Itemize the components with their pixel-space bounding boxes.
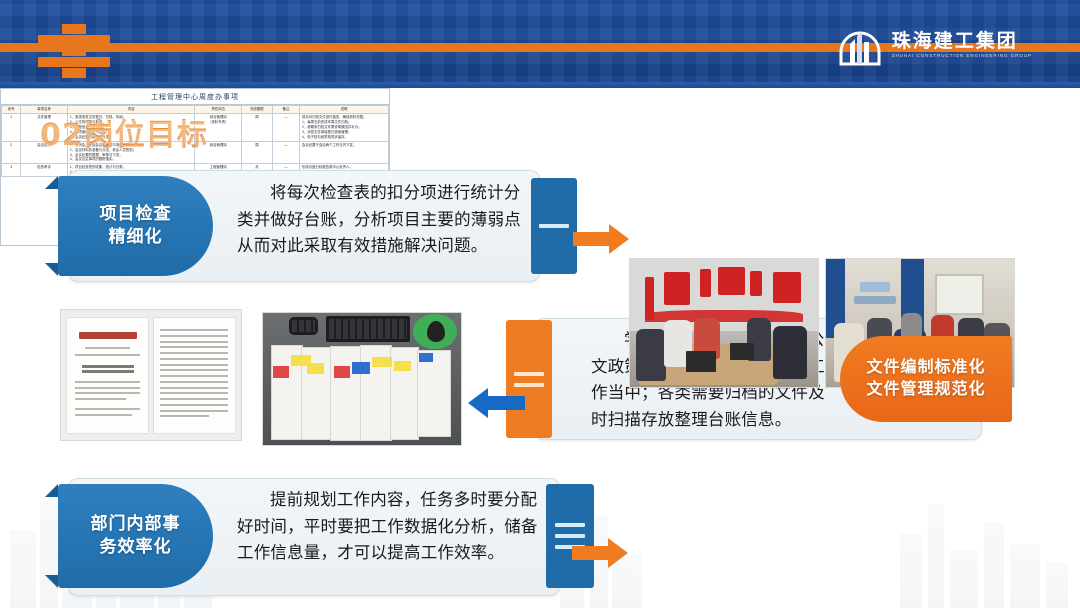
item-1-arrow-head xyxy=(609,224,629,254)
doc-line xyxy=(160,369,228,371)
table-header-cell: 序号 xyxy=(2,106,21,114)
doc-line xyxy=(75,408,140,410)
table-cell-no: 2 xyxy=(2,141,21,164)
desk-stapler xyxy=(289,317,319,335)
doc-line xyxy=(160,329,228,331)
doc-title-bar xyxy=(79,332,137,339)
item-2-arrow-head xyxy=(468,388,488,418)
item-3-arrow-head xyxy=(608,538,628,568)
photo-laptop xyxy=(730,343,754,360)
doc-line xyxy=(75,398,125,400)
doc-line xyxy=(160,410,228,412)
table-cell-remark: — xyxy=(272,113,299,141)
desk-sticky-note xyxy=(394,361,412,372)
desk-paper xyxy=(417,350,451,437)
item-2-marker xyxy=(506,320,552,438)
table-cell-remark: — xyxy=(272,141,299,164)
desk-sticky-note xyxy=(372,357,392,368)
photo-person xyxy=(773,326,807,380)
header-checker-motif xyxy=(22,24,132,72)
item-3-tag-fold-bottom xyxy=(45,575,58,588)
header-orange-bar-right xyxy=(1030,43,1080,52)
doc-line xyxy=(75,392,140,394)
item-3-arrow-shaft xyxy=(572,546,610,560)
item-1-tag[interactable]: 项目检查 精细化 xyxy=(58,176,213,276)
table-cell-note: 会议纪要于会后两个工作日内下发。 xyxy=(299,141,388,164)
company-logo: 珠海建工集团 ZHUHAI CONSTRUCTION ENGINEERING G… xyxy=(837,22,1032,68)
table-cell-deadline: 周 xyxy=(241,113,272,141)
item-3-tag[interactable]: 部门内部事 务效率化 xyxy=(58,484,213,588)
doc-line xyxy=(85,347,130,349)
doc-line xyxy=(160,398,228,400)
desk-sticky-note xyxy=(273,366,289,378)
doc-line xyxy=(160,341,228,343)
doc-line xyxy=(75,414,132,416)
item-1-arrow-right-icon xyxy=(573,224,629,254)
photo-meeting-red xyxy=(629,258,819,388)
photo-banner xyxy=(773,272,801,303)
doc-meeting-minutes xyxy=(60,309,242,441)
item-1-tag-line-1: 项目检查 xyxy=(100,203,172,226)
item-3-arrow-right-icon xyxy=(572,538,628,568)
item-1-mark-line-1 xyxy=(539,224,569,228)
item-1-tag-fold-top xyxy=(45,176,58,189)
item-2-mark-line-1 xyxy=(514,372,544,376)
table-image-title: 工程管理中心周度办事项 xyxy=(1,89,389,105)
doc-line xyxy=(160,375,228,377)
desk-paper xyxy=(330,346,362,441)
table-cell-no: 1 xyxy=(2,113,21,141)
photo-whiteboard xyxy=(935,274,984,315)
table-header-cell: 完成期限 xyxy=(241,106,272,114)
logo-company-name-cn: 珠海建工集团 xyxy=(892,32,1032,52)
doc-line xyxy=(160,358,228,360)
doc-line xyxy=(82,370,134,373)
doc-line xyxy=(160,364,228,366)
item-3-tag-line-2: 务效率化 xyxy=(100,536,172,559)
table-header-cell: 说明 xyxy=(299,106,388,114)
item-2-tag[interactable]: 文件编制标准化 文件管理规范化 xyxy=(840,336,1012,422)
table-cell-deadline: 周 xyxy=(241,141,272,164)
desk-sticky-note xyxy=(334,366,350,378)
photo-banner xyxy=(718,267,744,295)
page-title: 02岗位目标 xyxy=(40,110,208,154)
item-3-tag-fold-top xyxy=(45,484,58,497)
doc-line xyxy=(75,354,140,356)
slide-body: 02岗位目标 将每次检查表的扣分项进行统计分类并做好台账，分析项目主要的薄弱点从… xyxy=(0,88,1080,608)
logo-company-name-en: ZHUHAI CONSTRUCTION ENGINEERING GROUP xyxy=(892,53,1032,58)
doc-page-left xyxy=(66,317,149,434)
doc-line xyxy=(75,381,140,383)
item-2-mark-line-2 xyxy=(514,383,544,387)
item-3-tag-line-1: 部门内部事 xyxy=(91,513,181,536)
doc-line xyxy=(160,387,228,389)
doc-line xyxy=(160,392,228,394)
table-cell-name: 检查考评 xyxy=(21,164,67,177)
desk-sticky-note xyxy=(307,363,325,374)
photo-desk-documents xyxy=(262,312,462,446)
photo-banner xyxy=(750,271,761,297)
item-2-tag-line-1: 文件编制标准化 xyxy=(866,357,985,379)
item-1-arrow-shaft xyxy=(573,232,611,246)
doc-line xyxy=(82,365,134,368)
table-cell-no: 3 xyxy=(2,164,21,177)
item-2-arrow-shaft xyxy=(487,396,525,410)
desk-sticky-note xyxy=(352,362,370,374)
item-2-arrow-left-icon xyxy=(468,388,526,418)
doc-line xyxy=(160,352,228,354)
doc-line xyxy=(75,387,140,389)
item-1-marker xyxy=(531,178,577,274)
table-header-cell: 备注 xyxy=(272,106,299,114)
doc-line xyxy=(160,381,228,383)
desk-keyboard xyxy=(326,316,409,342)
table-cell-note: 按月对归档文件进行抽查，确保资料完整； 1、每周五前完成本周文件归档； 2、超期… xyxy=(299,113,388,141)
photo-wall-logo xyxy=(854,296,895,304)
logo-building-icon xyxy=(837,22,883,68)
doc-line xyxy=(160,415,208,417)
item-3-mark-line-1 xyxy=(555,523,585,527)
doc-page-right xyxy=(153,317,236,434)
desk-sticky-note xyxy=(419,353,433,362)
photo-banner xyxy=(700,269,711,297)
item-3-marker xyxy=(546,484,594,588)
photo-person xyxy=(636,329,666,380)
doc-line xyxy=(160,346,228,348)
desk-mouse xyxy=(427,321,445,342)
item-2-tag-line-2: 文件管理规范化 xyxy=(866,379,985,401)
doc-line xyxy=(160,404,228,406)
photo-banner xyxy=(664,272,690,305)
slide-header: 珠海建工集团 ZHUHAI CONSTRUCTION ENGINEERING G… xyxy=(0,0,1080,88)
item-1-tag-fold-bottom xyxy=(45,263,58,276)
doc-line xyxy=(160,335,228,337)
photo-laptop xyxy=(686,351,716,371)
item-1-tag-line-2: 精细化 xyxy=(109,226,163,249)
photo-wall-logo xyxy=(860,282,890,292)
